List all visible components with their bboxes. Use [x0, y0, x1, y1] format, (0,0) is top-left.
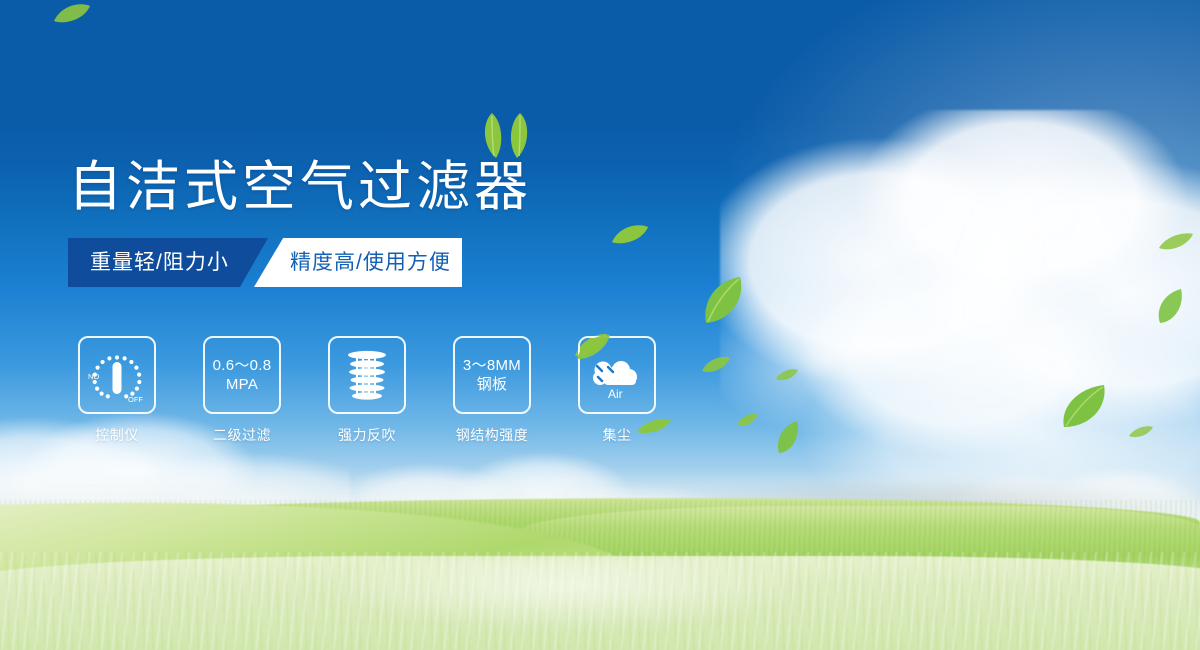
product-banner: 自洁式空气过滤器 重量轻/阻力小 精度高/使用方便	[0, 0, 1200, 650]
feature-caption: 集尘	[564, 425, 670, 445]
feature-icon-box: NO OFF	[78, 336, 156, 414]
feature-icon-box: 0.6～0.8 MPA	[203, 336, 281, 414]
feature-item-controller[interactable]: NO OFF 控制仪	[78, 336, 156, 445]
grass-foreground	[0, 556, 1200, 650]
feature-icon-box: 3～8MM 钢板	[453, 336, 531, 414]
feature-icon-box	[328, 336, 406, 414]
feature-item-dust[interactable]: Air 集尘	[578, 336, 656, 445]
feature-icon-box: Air	[578, 336, 656, 414]
steel-plate-text-icon: 3～8MM 钢板	[463, 356, 521, 394]
gauge-off-label: OFF	[128, 395, 143, 404]
big-cloud-right	[720, 110, 1200, 510]
pressure-text-icon: 0.6～0.8 MPA	[213, 356, 272, 394]
gauge-dial-icon: NO OFF	[84, 345, 150, 405]
feature-caption: 二级过滤	[189, 425, 295, 445]
gauge-no-label: NO	[88, 372, 99, 381]
feature-item-pressure[interactable]: 0.6～0.8 MPA 二级过滤	[203, 336, 281, 445]
feature-item-backblow[interactable]: 强力反吹	[328, 336, 406, 445]
page-title: 自洁式空气过滤器	[68, 142, 532, 221]
subtitle-right-text: 精度高/使用方便	[290, 238, 451, 287]
air-label: Air	[608, 387, 623, 401]
filter-cartridge-icon	[338, 346, 396, 404]
cloud-air-icon: Air	[586, 346, 648, 404]
subtitle-bar: 重量轻/阻力小 精度高/使用方便	[68, 238, 462, 287]
feature-item-steel[interactable]: 3～8MM 钢板 钢结构强度	[453, 336, 531, 445]
subtitle-left-text: 重量轻/阻力小	[90, 238, 229, 287]
feature-caption: 钢结构强度	[439, 425, 545, 445]
feature-caption: 控制仪	[64, 425, 170, 445]
feature-list: NO OFF 控制仪 0.6～0.8 MPA 二级过滤	[78, 336, 656, 445]
feature-caption: 强力反吹	[314, 425, 420, 445]
